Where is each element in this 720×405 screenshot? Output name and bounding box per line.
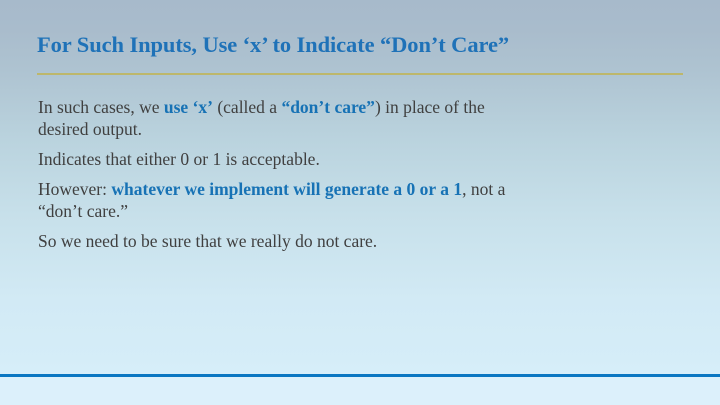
body-text-0: Indicates that either 0 or 1 is acceptab… (38, 149, 320, 169)
emphasis-text-3: “don’t care” (281, 97, 374, 117)
body-text-0: However: (38, 179, 111, 199)
paragraph-4: So we need to be sure that we really do … (38, 230, 508, 252)
emphasis-text-1: use ‘x’ (164, 97, 213, 117)
body-content: In such cases, we use ‘x’ (called a “don… (38, 96, 508, 252)
body-text-0: In such cases, we (38, 97, 164, 117)
paragraph-1: In such cases, we use ‘x’ (called a “don… (38, 96, 508, 140)
emphasis-text-1: whatever we implement will generate a 0 … (111, 179, 462, 199)
footer-band: ECE 120: Introduction to Computing © 201… (0, 377, 720, 405)
paragraph-3: However: whatever we implement will gene… (38, 178, 508, 222)
paragraph-2: Indicates that either 0 or 1 is acceptab… (38, 148, 508, 170)
body-text-0: So we need to be sure that we really do … (38, 231, 377, 251)
body-text-2: (called a (213, 97, 282, 117)
slide-canvas: For Such Inputs, Use ‘x’ to Indicate “Do… (0, 0, 720, 405)
title-underline-rule (37, 73, 683, 75)
page-title: For Such Inputs, Use ‘x’ to Indicate “Do… (37, 31, 687, 59)
title-block: For Such Inputs, Use ‘x’ to Indicate “Do… (37, 31, 687, 59)
